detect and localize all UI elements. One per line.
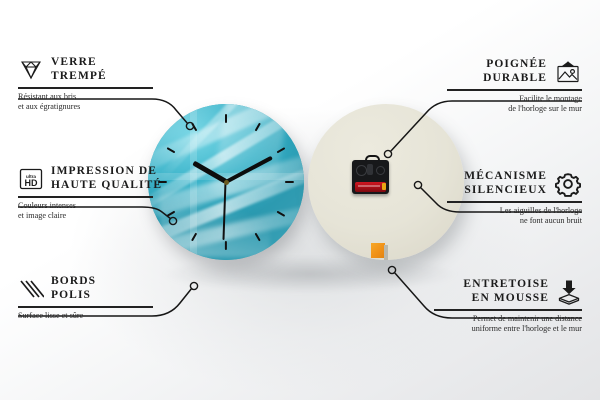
feature-title-line2: SILENCIEUX: [447, 184, 547, 198]
svg-text:HD: HD: [25, 178, 38, 188]
feature-title-line1: VERRE: [51, 56, 107, 70]
feature-title-line1: POIGNÉE: [447, 58, 547, 72]
mechanism-knob: [376, 166, 385, 175]
feature-verre-trempe[interactable]: VERRE TREMPÉ Résistant aux bris et aux é…: [18, 56, 153, 112]
foam-spacer: [371, 243, 387, 260]
feature-sub-line1: Les aiguilles de l'horloge: [447, 206, 582, 216]
mechanism-switch: [367, 164, 373, 175]
hour-tick: [285, 181, 294, 183]
feature-sub-line1: Permet de maintenir une distance: [434, 314, 582, 324]
feature-mecanisme-silencieux[interactable]: MÉCANISME SILENCIEUX Les aiguilles de l'…: [447, 170, 582, 226]
mechanism-dial: [356, 165, 367, 176]
infographic-scene: VERRE TREMPÉ Résistant aux bris et aux é…: [0, 0, 600, 400]
feature-sub-line2: ne font aucun bruit: [447, 216, 582, 226]
feature-sub-line2: de l'horloge sur le mur: [447, 104, 582, 114]
clock-center-cap: [224, 180, 229, 185]
diagonal-lines-icon: [18, 278, 44, 300]
feature-rule: [434, 309, 582, 311]
feature-impression-haute-qualite[interactable]: ultra HD IMPRESSION DE HAUTE QUALITÉ Cou…: [18, 165, 153, 221]
hour-tick: [225, 241, 227, 250]
feature-rule: [447, 89, 582, 91]
clock-front-face: [148, 104, 304, 260]
feature-rule: [18, 87, 153, 89]
mechanism-housing: [352, 160, 389, 194]
feature-sub-line1: Couleurs intenses: [18, 201, 153, 211]
feature-poignee-durable[interactable]: POIGNÉE DURABLE Facilite le montage de l…: [447, 58, 582, 114]
feature-rule: [447, 201, 582, 203]
feature-title-line2: POLIS: [51, 289, 96, 303]
foam-pad-shadow: [384, 245, 388, 260]
foam-pad: [371, 243, 385, 258]
feature-sub-line2: et image claire: [18, 211, 153, 221]
feature-rule: [18, 196, 153, 198]
hour-tick: [225, 114, 227, 123]
feature-title-line1: BORDS: [51, 275, 96, 289]
feature-sub-line1: Surface lisse et sûre: [18, 311, 153, 321]
feature-title-line2: TREMPÉ: [51, 70, 107, 84]
feature-title-line2: DURABLE: [447, 72, 547, 86]
feature-sub-line1: Facilite le montage: [447, 94, 582, 104]
clock-mechanism: [352, 160, 389, 194]
battery: [355, 182, 386, 192]
gear-icon: [554, 171, 582, 197]
clock-back-face: [308, 104, 464, 260]
feature-title-line1: MÉCANISME: [447, 170, 547, 184]
diamond-icon: [18, 59, 44, 81]
feature-sub-line2: uniforme entre l'horloge et le mur: [434, 324, 582, 334]
feature-entretoise-en-mousse[interactable]: ENTRETOISE EN MOUSSE Permet de maintenir…: [434, 278, 582, 334]
feature-title-line1: IMPRESSION DE: [51, 165, 162, 179]
feature-sub-line2: et aux égratignures: [18, 102, 153, 112]
feature-rule: [18, 306, 153, 308]
feature-bords-polis[interactable]: BORDS POLIS Surface lisse et sûre: [18, 275, 153, 321]
press-down-layers-icon: [556, 279, 582, 305]
feature-title-line1: ENTRETOISE: [434, 278, 549, 292]
feature-title-line2: HAUTE QUALITÉ: [51, 179, 162, 193]
ultra-hd-badge-icon: ultra HD: [18, 167, 44, 191]
hanging-frame-icon: [554, 60, 582, 84]
feature-title-line2: EN MOUSSE: [434, 292, 549, 306]
feature-sub-line1: Résistant aux bris: [18, 92, 153, 102]
